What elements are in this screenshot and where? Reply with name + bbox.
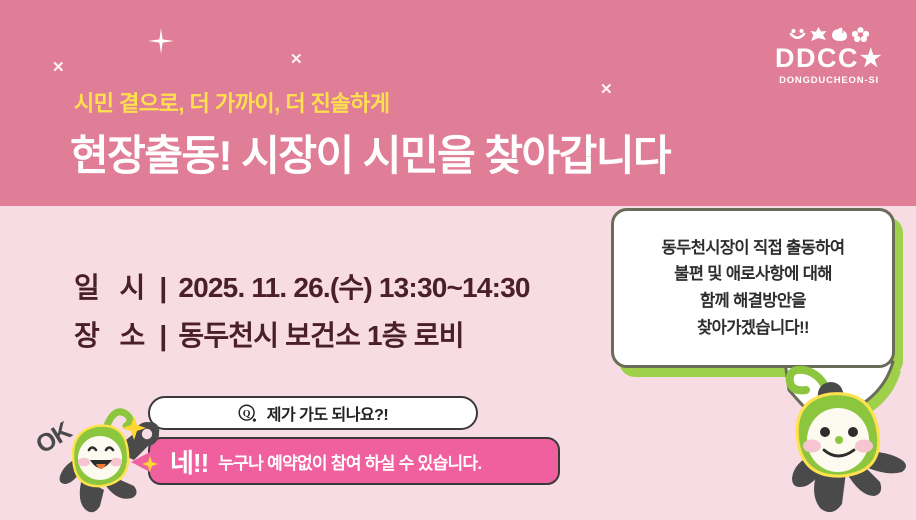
sparkle-cross-icon: ✕ xyxy=(290,52,303,67)
bubble-line: 동두천시장이 직접 출동하여 xyxy=(662,235,845,262)
answer-emphasis: 네!! xyxy=(170,443,208,480)
svg-text:Q: Q xyxy=(242,408,250,419)
logo-mark-text: DDCC xyxy=(775,45,859,72)
logo-wordmark: DDCC ★ xyxy=(770,45,888,72)
sparkle-cross-icon: ✕ xyxy=(52,60,65,75)
info-value-datetime: 2025. 11. 26.(수) 13:30~14:30 xyxy=(178,266,529,306)
sparkle-star-icon xyxy=(148,28,174,54)
ddcc-mascot-ok xyxy=(34,398,174,520)
ddcc-mascot-waving xyxy=(768,356,916,520)
bubble-line: 찾아가겠습니다!! xyxy=(697,315,809,342)
logo-icon-row xyxy=(770,24,888,42)
header-band: ✕ ✕ ✕ xyxy=(0,0,916,206)
main-speech-bubble: 동두천시장이 직접 출동하여 불편 및 애로사항에 대해 함께 해결방안을 찾아… xyxy=(611,208,895,368)
question-bubble: Q 제가 가도 되나요?! xyxy=(148,396,478,430)
bird-icon xyxy=(831,27,848,42)
info-label-location: 장 소 xyxy=(74,314,151,354)
info-separator: | xyxy=(159,320,166,352)
answer-bubble: 네!! 누구나 예약없이 참여 하실 수 있습니다. xyxy=(148,437,560,485)
info-separator: | xyxy=(159,272,166,304)
page-title: 현장출동! 시장이 시민을 찾아갑니다 xyxy=(70,122,670,183)
leaf-icon xyxy=(810,27,827,42)
ddcc-logo: DDCC ★ DONGDUCHEON-SI xyxy=(770,24,888,86)
logo-star-icon: ★ xyxy=(860,47,883,71)
info-row-location: 장 소 | 동두천시 보건소 1층 로비 xyxy=(74,314,530,354)
poster-root: ✕ ✕ ✕ xyxy=(0,0,916,520)
question-text: 제가 가도 되나요?! xyxy=(267,401,389,425)
bubble-line: 불편 및 애로사항에 대해 xyxy=(674,261,832,288)
circled-q-icon: Q xyxy=(238,404,257,423)
info-row-datetime: 일 시 | 2025. 11. 26.(수) 13:30~14:30 xyxy=(74,266,530,306)
logo-subtitle: DONGDUCHEON-SI xyxy=(770,76,888,86)
event-info: 일 시 | 2025. 11. 26.(수) 13:30~14:30 장 소 |… xyxy=(74,266,530,362)
info-label-datetime: 일 시 xyxy=(74,266,151,306)
header-subtitle: 시민 곁으로, 더 가까이, 더 진솔하게 xyxy=(74,86,390,118)
info-value-location: 동두천시 보건소 1층 로비 xyxy=(178,314,463,354)
smiley-icon xyxy=(789,27,806,42)
bubble-content: 동두천시장이 직접 출동하여 불편 및 애로사항에 대해 함께 해결방안을 찾아… xyxy=(611,208,895,368)
bubble-line: 함께 해결방안을 xyxy=(700,288,806,315)
answer-text: 누구나 예약없이 참여 하실 수 있습니다. xyxy=(218,449,481,474)
sparkle-cross-icon: ✕ xyxy=(600,82,613,97)
flower-icon xyxy=(852,27,869,42)
